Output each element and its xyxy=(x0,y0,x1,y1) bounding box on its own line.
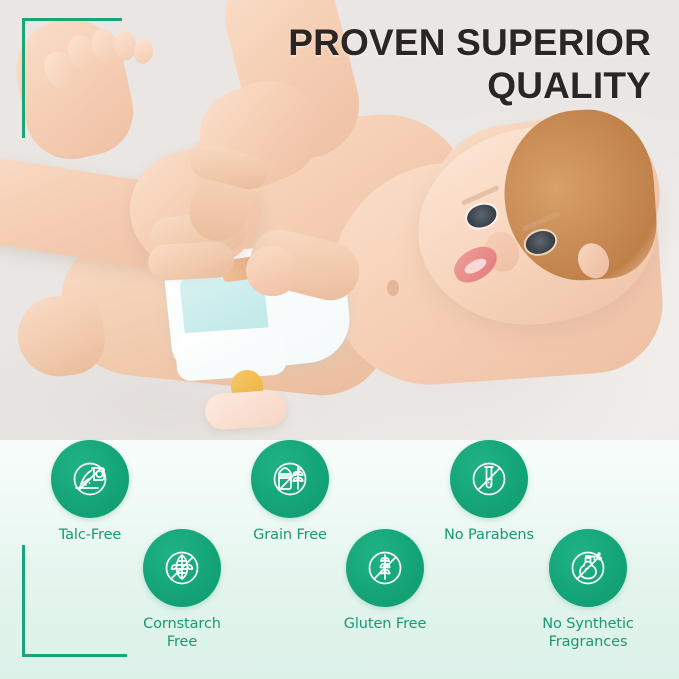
baby-eyebrow xyxy=(461,185,500,206)
no-grain-sack-icon xyxy=(251,440,329,518)
no-perfume-bottle-icon xyxy=(549,529,627,607)
baby-navel xyxy=(387,280,399,296)
diaper-edge xyxy=(174,326,287,382)
headline-line-1: PROVEN SUPERIOR xyxy=(279,22,651,65)
bracket-vertical-rule xyxy=(22,18,25,138)
badge-label: Cornstarch Free xyxy=(106,616,258,651)
no-wheat-stalk-icon xyxy=(346,529,424,607)
badge-no-synthetic-fragrances: No Synthetic Fragrances xyxy=(512,529,664,651)
bracket-horizontal-rule xyxy=(22,18,122,21)
headline: PROVEN SUPERIOR QUALITY xyxy=(279,22,651,108)
no-test-tube-icon xyxy=(450,440,528,518)
pacifier-shield xyxy=(204,389,288,431)
baby-mouth-inner xyxy=(462,256,488,277)
headline-line-2: QUALITY xyxy=(279,65,651,108)
no-corn-icon xyxy=(143,529,221,607)
adult-finger xyxy=(147,241,235,281)
corner-bracket-top-left xyxy=(22,18,122,138)
promo-image: PROVEN SUPERIOR QUALITY xyxy=(0,0,679,679)
no-talc-powder-icon xyxy=(51,440,129,518)
badge-label: Gluten Free xyxy=(309,616,461,634)
badge-cornstarch-free: Cornstarch Free xyxy=(106,529,258,651)
badge-gluten-free: Gluten Free xyxy=(309,529,461,634)
badge-label: No Synthetic Fragrances xyxy=(512,616,664,651)
feature-badge-group: Talc-Free Grain Free xyxy=(0,432,679,679)
baby-eye xyxy=(464,201,499,231)
